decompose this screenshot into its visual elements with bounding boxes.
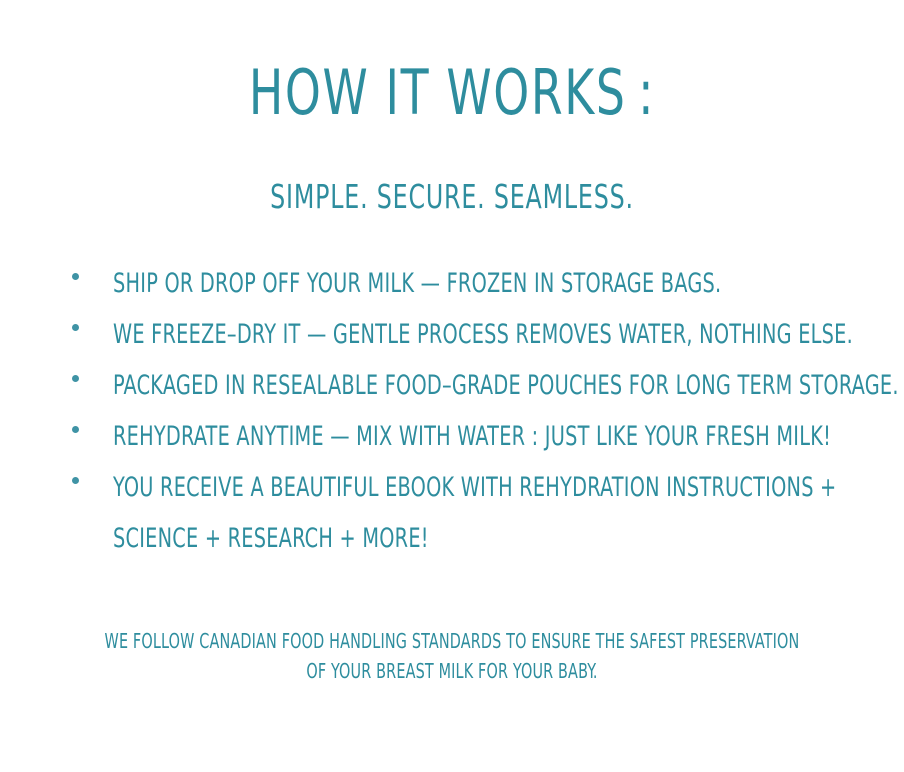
list-item-label: REHYDRATE ANYTIME — MIX WITH WATER : JUS… bbox=[113, 411, 742, 462]
footer-note: WE FOLLOW CANADIAN FOOD HANDLING STANDAR… bbox=[0, 626, 904, 686]
page-title-text: HOW IT WORKS bbox=[249, 56, 627, 129]
footer-note-line-1: WE FOLLOW CANADIAN FOOD HANDLING STANDAR… bbox=[90, 626, 813, 656]
list-item: PACKAGED IN RESEALABLE FOOD–GRADE POUCHE… bbox=[0, 360, 904, 411]
list-item-label: WE FREEZE–DRY IT — GENTLE PROCESS REMOVE… bbox=[113, 309, 742, 360]
list-item-label: PACKAGED IN RESEALABLE FOOD–GRADE POUCHE… bbox=[113, 360, 742, 411]
bullet-dot-icon bbox=[72, 375, 79, 382]
page-title: HOW IT WORKS: bbox=[81, 62, 822, 124]
list-item: SHIP OR DROP OFF YOUR MILK — FROZEN IN S… bbox=[0, 258, 904, 309]
how-it-works-poster: HOW IT WORKS: SIMPLE. SECURE. SEAMLESS. … bbox=[0, 0, 904, 772]
list-item: YOU RECEIVE A BEAUTIFUL EBOOK WITH REHYD… bbox=[0, 462, 904, 564]
list-item: WE FREEZE–DRY IT — GENTLE PROCESS REMOVE… bbox=[0, 309, 904, 360]
page-title-colon: : bbox=[627, 56, 656, 129]
list-item: REHYDRATE ANYTIME — MIX WITH WATER : JUS… bbox=[0, 411, 904, 462]
footer-note-line-2: OF YOUR BREAST MILK FOR YOUR BABY. bbox=[90, 656, 813, 686]
bullet-dot-icon bbox=[72, 273, 79, 280]
list-item-label: YOU RECEIVE A BEAUTIFUL EBOOK WITH REHYD… bbox=[113, 462, 742, 513]
list-item-label-continued: SCIENCE + RESEARCH + MORE! bbox=[113, 513, 742, 564]
page-subtitle: SIMPLE. SECURE. SEAMLESS. bbox=[90, 180, 813, 213]
bullet-dot-icon bbox=[72, 324, 79, 331]
list-item-label: SHIP OR DROP OFF YOUR MILK — FROZEN IN S… bbox=[113, 258, 742, 309]
bullet-dot-icon bbox=[72, 426, 79, 433]
bullet-dot-icon bbox=[72, 477, 79, 484]
steps-list: SHIP OR DROP OFF YOUR MILK — FROZEN IN S… bbox=[0, 258, 904, 564]
